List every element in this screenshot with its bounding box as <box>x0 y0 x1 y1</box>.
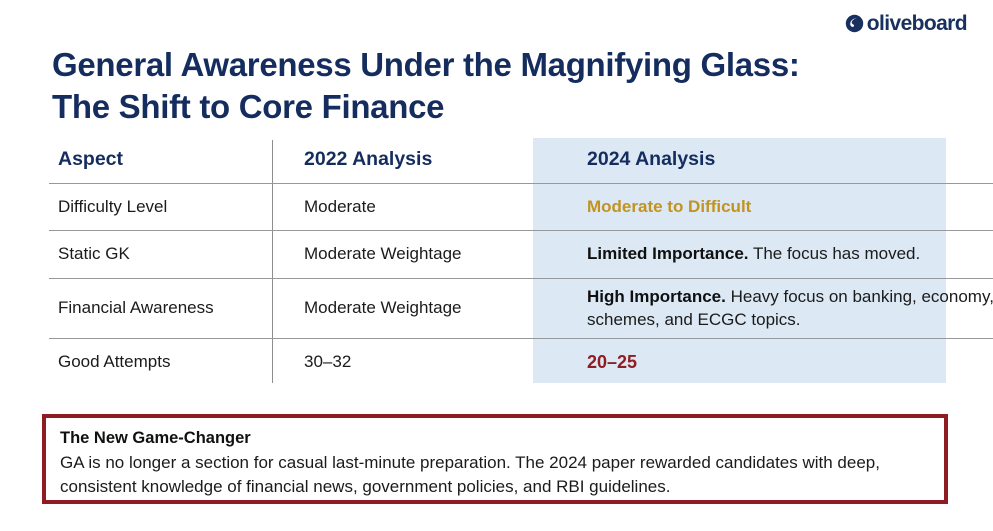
cell-2022: Moderate <box>281 184 565 231</box>
callout-body: GA is no longer a section for casual las… <box>60 451 930 497</box>
brand-name: oliveboard <box>867 13 967 34</box>
header-cell-2024: 2024 Analysis <box>565 136 993 184</box>
table-row: Good Attempts 30–32 20–25 <box>49 339 993 387</box>
cell-2022: Moderate Weightage <box>281 231 565 279</box>
cell-2024: 20–25 <box>565 339 993 387</box>
static-gk-2024-lead: Limited Importance. <box>587 244 749 263</box>
static-gk-2024-rest: The focus has moved. <box>749 244 921 263</box>
cell-2024: Limited Importance. The focus has moved. <box>565 231 993 279</box>
callout-title: The New Game-Changer <box>60 428 930 449</box>
oliveboard-circle-swirl-icon <box>845 14 864 33</box>
cell-aspect: Difficulty Level <box>49 184 281 231</box>
oliveboard-logo: oliveboard <box>845 13 967 34</box>
table-row: Financial Awareness Moderate Weightage H… <box>49 279 993 339</box>
analysis-table: Aspect 2022 Analysis 2024 Analysis Diffi… <box>49 136 993 386</box>
table-header-row: Aspect 2022 Analysis 2024 Analysis <box>49 136 993 184</box>
difficulty-2024-value: Moderate to Difficult <box>587 197 751 216</box>
table-row: Static GK Moderate Weightage Limited Imp… <box>49 231 993 279</box>
financial-awareness-2024-lead: High Importance. <box>587 287 726 306</box>
good-attempts-2024-value: 20–25 <box>587 352 637 372</box>
table-row: Difficulty Level Moderate Moderate to Di… <box>49 184 993 231</box>
cell-aspect: Static GK <box>49 231 281 279</box>
game-changer-callout: The New Game-Changer GA is no longer a s… <box>42 414 948 504</box>
header-cell-aspect: Aspect <box>49 136 281 184</box>
header-cell-2022: 2022 Analysis <box>281 136 565 184</box>
comparison-table: Aspect 2022 Analysis 2024 Analysis Diffi… <box>49 136 946 383</box>
cell-2024: High Importance. Heavy focus on banking,… <box>565 279 993 339</box>
cell-aspect: Financial Awareness <box>49 279 281 339</box>
page-title: General Awareness Under the Magnifying G… <box>52 44 842 128</box>
cell-aspect: Good Attempts <box>49 339 281 387</box>
cell-2022: Moderate Weightage <box>281 279 565 339</box>
cell-2024: Moderate to Difficult <box>565 184 993 231</box>
cell-2022: 30–32 <box>281 339 565 387</box>
